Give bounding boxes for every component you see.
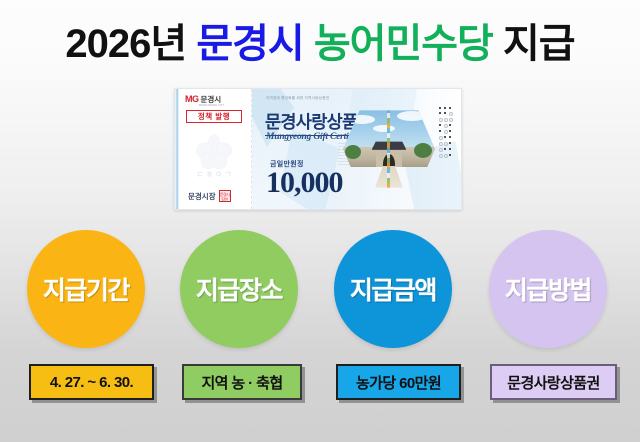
photo-cloud xyxy=(373,125,395,132)
page-title: 2026년 문경시 농어민수당 지급 xyxy=(0,18,640,70)
box-payment-period-value: 4. 27. ~ 6. 30. xyxy=(29,364,154,400)
flower-watermark-icon xyxy=(190,131,238,173)
title-segment-year: 2026년 xyxy=(65,22,186,66)
circle-label: 지급기간 xyxy=(43,271,129,307)
value-boxes-row: 4. 27. ~ 6. 30. 지역 농 · 축협 농가당 60만원 문경사랑상… xyxy=(0,364,640,402)
title-segment-subject: 농어민수당 xyxy=(314,22,493,66)
photo-tree xyxy=(414,143,432,158)
box-label: 지역 농 · 축협 xyxy=(201,372,282,393)
mayor-seal-stamp: 문경시장인 xyxy=(219,190,231,202)
photo-cloud xyxy=(397,111,427,121)
photo-color-strip xyxy=(387,103,390,195)
photo-tree xyxy=(345,145,361,159)
certificate-tagline: 지역경제 활성화를 위한 지역사랑상품권 xyxy=(266,96,329,101)
mayor-label: 문경시장 xyxy=(188,191,216,202)
poster-canvas: 2026년 문경시 농어민수당 지급 MG 문경시 MUNGYEONG CITY… xyxy=(0,0,640,442)
circle-payment-amount: 지급금액 xyxy=(334,230,452,348)
certificate-amount-number: 10,000 xyxy=(266,167,343,199)
box-label: 농가당 60만원 xyxy=(356,372,441,393)
category-circles-row: 지급기간 지급장소 지급금액 지급방법 xyxy=(0,230,640,350)
certificate-face: 지역경제 활성화를 위한 지역사랑상품권 문경사랑상품권 Mungyeong G… xyxy=(252,89,461,209)
mg-logo-subtext: MUNGYEONG CITY xyxy=(199,104,224,107)
circle-payment-method: 지급방법 xyxy=(489,230,607,348)
box-payment-amount-value: 농가당 60만원 xyxy=(336,364,461,400)
certificate-stub: MG 문경시 MUNGYEONG CITY 정책 발행 ㄷㅎㅇㄱ 문경시장 문경… xyxy=(179,89,252,209)
circle-label: 지급금액 xyxy=(350,271,436,307)
title-segment-city: 문경시 xyxy=(196,22,303,66)
circle-label: 지급장소 xyxy=(196,271,282,307)
circle-payment-place: 지급장소 xyxy=(180,230,298,348)
mayor-signature-row: 문경시장 문경시장인 xyxy=(188,190,231,202)
box-payment-place-value: 지역 농 · 축협 xyxy=(182,364,302,400)
box-label: 문경사랑상품권 xyxy=(507,372,599,393)
gift-certificate-image: MG 문경시 MUNGYEONG CITY 정책 발행 ㄷㅎㅇㄱ 문경시장 문경… xyxy=(174,88,462,210)
title-segment-action: 지급 xyxy=(503,22,575,66)
box-payment-method-value: 문경사랑상품권 xyxy=(490,364,617,400)
braille-dots xyxy=(439,107,453,167)
policy-issue-badge: 정책 발행 xyxy=(186,110,242,123)
mg-logo-city: 문경시 xyxy=(201,95,222,104)
stub-ghost-text: ㄷㅎㅇㄱ xyxy=(187,169,243,180)
mg-logo-mark: MG xyxy=(185,95,199,104)
circle-payment-period: 지급기간 xyxy=(27,230,145,348)
mg-logo: MG 문경시 xyxy=(185,95,247,104)
box-label: 4. 27. ~ 6. 30. xyxy=(50,374,133,391)
circle-label: 지급방법 xyxy=(505,271,591,307)
